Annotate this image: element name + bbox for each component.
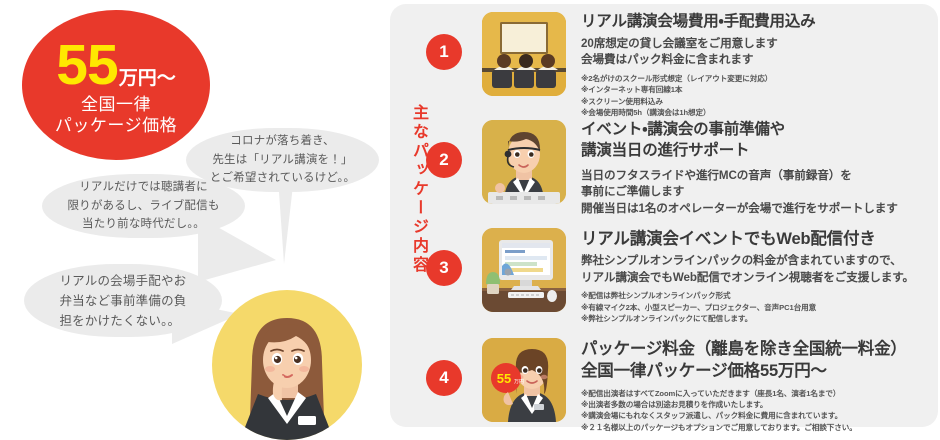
price-badge-amount-row: 55 万円～ [56, 38, 175, 92]
bubble-line: コロナが落ち着き、 [210, 132, 355, 151]
row-notes: ※2名がけのスクール形式想定（レイアウト変更に対応） ※インターネット専有回線1… [581, 73, 936, 119]
price-badge-unit: 万円～ [119, 69, 176, 88]
bubble-line: 当たり前な時代だし。。 [67, 215, 219, 234]
row-body: 弊社シンプルオンラインパックの料金が含まれていますので、 リアル講演会でもWeb… [581, 253, 936, 286]
row-body-line: 弊社シンプルオンラインパックの料金が含まれていますので、 [581, 253, 936, 269]
package-row: 3 リアル講演会イベ [426, 224, 936, 328]
row-number-badge: 4 [426, 360, 462, 396]
speech-bubble-burden: リアルの会場手配やお 弁当など事前準備の負 担をかけたくない。。 [24, 264, 222, 337]
row-note-line: ※配信出演者はすべてZoomに入っていただきます（座長1名、演者1名まで） [581, 388, 936, 399]
price-badge-amount: 55 [56, 38, 117, 92]
row-note-line: ※有線マイク2本、小型スピーカー、プロジェクター、音声PC1台用意 [581, 302, 936, 313]
row-note-line: ※出演者多数の場合は別途お見積りを作成いたします。 [581, 399, 936, 410]
bubble-line: 先生は「リアル講演を！」 [210, 151, 355, 170]
package-row: 1 リアル講演会場費用・手配費用込み 20席想定の貸し会 [426, 8, 936, 111]
row-title-line: 全国一律パッケージ価格55万円～ [581, 360, 936, 382]
price-badge-subtitle-1: 全国一律 [81, 94, 151, 115]
business-woman-icon [212, 290, 362, 440]
row-body-line: 会場費はパック料金に含まれます [581, 52, 936, 68]
left-promo-column: 55 万円～ 全国一律 パッケージ価格 コロナが落ち着き、 先生は「リアル講演を… [0, 0, 390, 431]
row-text-block: リアル講演会場費用・手配費用込み 20席想定の貸し会議室をご用意します 会場費は… [581, 8, 936, 118]
svg-text:55: 55 [497, 371, 511, 386]
price-badge: 55 万円～ 全国一律 パッケージ価格 [22, 10, 210, 160]
package-row: 4 55 万円 パッケージ料金（離島を除き全国統一料金） 全国一律パッケージ価格 [426, 334, 936, 428]
row-body-line: リアル講演会でもWeb配信でオンライン視聴者をご支援します。 [581, 270, 936, 286]
row-number-badge: 1 [426, 34, 462, 70]
row-note-line: ※弊社シンプルオンラインパックにて配信します。 [581, 313, 936, 324]
row-body-line: 事前にご準備します [581, 184, 936, 200]
bubble-line: 弁当など事前準備の負 [59, 291, 186, 311]
row-title-line: 講演当日の進行サポート [581, 141, 936, 162]
speech-bubble-live-streaming: リアルだけでは聴講者に 限りがあるし、ライブ配信も 当たり前な時代だし。。 [42, 174, 245, 238]
bubble-line: とご希望されているけど。。 [210, 169, 355, 188]
row-body-line: 当日のフタスライドや進行MCの音声（事前録音）を [581, 168, 936, 184]
row-title: リアル講演会場費用・手配費用込み [581, 12, 936, 33]
row-title: リアル講演会イベントでもWeb配信付き [581, 228, 936, 250]
row-title-line: パッケージ料金（離島を除き全国統一料金） [581, 338, 936, 360]
operator-headset-icon [482, 120, 566, 204]
row-text-block: イベント・講演会の事前準備や 講演当日の進行サポート 当日のフタスライドや進行M… [581, 116, 936, 217]
bubble-line: リアルだけでは聴講者に [67, 178, 219, 197]
svg-text:万円: 万円 [514, 379, 524, 385]
row-text-block: パッケージ料金（離島を除き全国統一料金） 全国一律パッケージ価格55万円～ ※配… [581, 334, 936, 433]
desktop-webinar-icon [482, 228, 566, 312]
bubble-line: リアルの会場手配やお [59, 271, 186, 291]
bubble-line: 担をかけたくない。。 [59, 311, 186, 331]
package-contents-vertical-label: 主なパッケージ内容 [392, 104, 426, 275]
row-body-line: 20席想定の貸し会議室をご用意します [581, 36, 936, 52]
row-title: パッケージ料金（離島を除き全国統一料金） 全国一律パッケージ価格55万円～ [581, 338, 936, 383]
row-number-badge: 3 [426, 250, 462, 286]
price-badge-subtitle-2: パッケージ価格 [55, 115, 177, 136]
price-presenter-icon: 55 万円 [482, 338, 566, 422]
row-note-line: ※スクリーン使用料込み [581, 96, 936, 107]
row-body-line: 開催当日は1名のオペレーターが会場で進行をサポートします [581, 201, 936, 217]
row-body: 当日のフタスライドや進行MCの音声（事前録音）を 事前にご準備します 開催当日は… [581, 168, 936, 217]
row-note-line: ※配信は弊社シンプルオンラインパック形式 [581, 290, 936, 301]
row-title-line: イベント・講演会の事前準備や [581, 120, 936, 141]
row-number-badge: 2 [426, 142, 462, 178]
seminar-room-icon [482, 12, 566, 96]
row-note-line: ※講演会場にもれなくスタッフ派遣し、パック料金に費用に含まれています。 [581, 410, 936, 421]
package-row: 2 イベント・講 [426, 116, 936, 216]
row-title: イベント・講演会の事前準備や 講演当日の進行サポート [581, 120, 936, 162]
row-note-line: ※インターネット専有回線1本 [581, 84, 936, 95]
row-notes: ※配信は弊社シンプルオンラインパック形式 ※有線マイク2本、小型スピーカー、プロ… [581, 290, 936, 324]
row-text-block: リアル講演会イベントでもWeb配信付き 弊社シンプルオンラインパックの料金が含ま… [581, 224, 936, 324]
row-note-line: ※2名がけのスクール形式想定（レイアウト変更に対応） [581, 73, 936, 84]
row-note-line: ※２１名様以上のパッケージもオプションでご用意しております。ご相談下さい。 [581, 422, 936, 433]
row-notes: ※配信出演者はすべてZoomに入っていただきます（座長1名、演者1名まで） ※出… [581, 388, 936, 434]
row-body: 20席想定の貸し会議室をご用意します 会場費はパック料金に含まれます [581, 36, 936, 69]
bubble-line: 限りがあるし、ライブ配信も [67, 197, 219, 216]
presenter-illustration [212, 290, 362, 440]
